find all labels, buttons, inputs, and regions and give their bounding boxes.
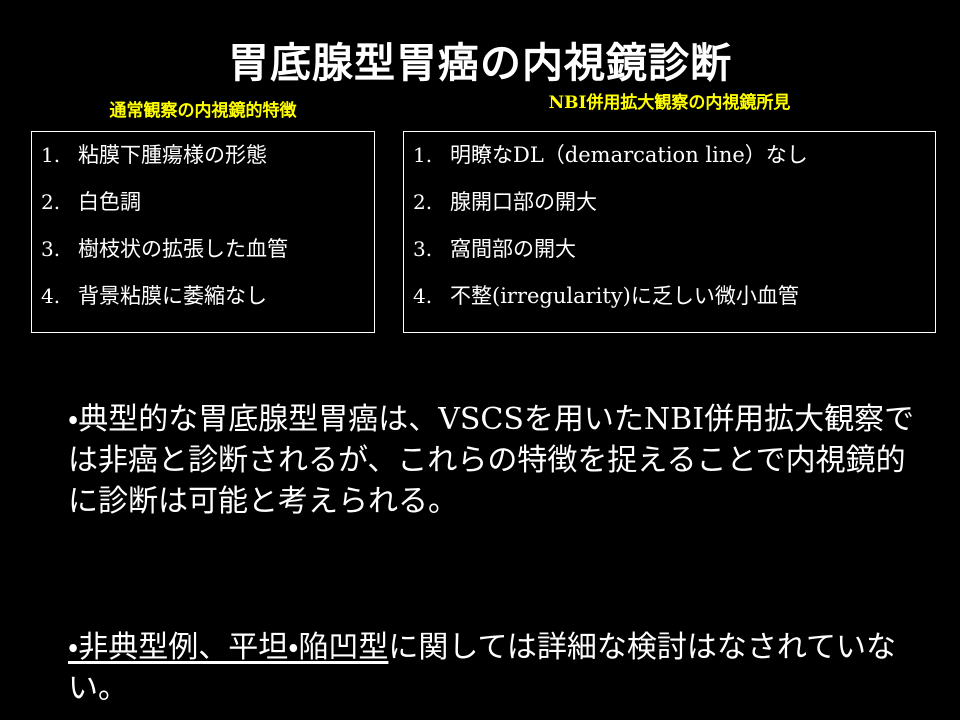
left-column-heading: 通常観察の内視鏡的特徴	[31, 100, 375, 122]
body-paragraph-2: ・非典型例、平坦・陥凹型に関しては詳細な検討はなされていない。	[68, 627, 930, 709]
list-item: 2. 腺開口部の開大	[404, 187, 935, 234]
list-item: 1. 粘膜下腫瘍様の形態	[32, 140, 374, 187]
right-feature-list: 1. 明瞭なDL（demarcation line）なし 2. 腺開口部の開大 …	[404, 140, 935, 328]
body-paragraph-2-underlined: ・非典型例、平坦・陥凹型	[68, 630, 388, 665]
right-column-heading: NBI併用拡大観察の内視鏡所見	[403, 92, 936, 114]
list-item: 1. 明瞭なDL（demarcation line）なし	[404, 140, 935, 187]
body-paragraph-1: ・典型的な胃底腺型胃癌は、VSCSを用いたNBI併用拡大観察では非癌と診断される…	[68, 399, 930, 522]
list-item-number: 1.	[32, 140, 78, 170]
list-item-label: 不整(irregularity)に乏しい微小血管	[450, 281, 799, 311]
list-item-label: 白色調	[78, 187, 141, 217]
list-item: 4. 不整(irregularity)に乏しい微小血管	[404, 281, 935, 328]
right-feature-box: 1. 明瞭なDL（demarcation line）なし 2. 腺開口部の開大 …	[403, 131, 936, 333]
list-item: 3. 窩間部の開大	[404, 234, 935, 281]
list-item-number: 1.	[404, 140, 450, 170]
list-item-number: 2.	[32, 187, 78, 217]
list-item-label: 窩間部の開大	[450, 234, 576, 264]
list-item-number: 3.	[404, 234, 450, 264]
list-item-label: 背景粘膜に萎縮なし	[78, 281, 267, 311]
slide-canvas: 胃底腺型胃癌の内視鏡診断 通常観察の内視鏡的特徴 NBI併用拡大観察の内視鏡所見…	[0, 0, 960, 720]
list-item-label: 腺開口部の開大	[450, 187, 597, 217]
list-item: 2. 白色調	[32, 187, 374, 234]
list-item-label: 明瞭なDL（demarcation line）なし	[450, 140, 808, 170]
list-item-number: 4.	[32, 281, 78, 311]
list-item-label: 樹枝状の拡張した血管	[78, 234, 288, 264]
list-item: 4. 背景粘膜に萎縮なし	[32, 281, 374, 328]
page-title: 胃底腺型胃癌の内視鏡診断	[0, 37, 960, 89]
list-item: 3. 樹枝状の拡張した血管	[32, 234, 374, 281]
list-item-number: 3.	[32, 234, 78, 264]
left-feature-list: 1. 粘膜下腫瘍様の形態 2. 白色調 3. 樹枝状の拡張した血管 4. 背景粘…	[32, 140, 374, 328]
list-item-number: 4.	[404, 281, 450, 311]
list-item-label: 粘膜下腫瘍様の形態	[78, 140, 267, 170]
list-item-number: 2.	[404, 187, 450, 217]
left-feature-box: 1. 粘膜下腫瘍様の形態 2. 白色調 3. 樹枝状の拡張した血管 4. 背景粘…	[31, 131, 375, 333]
